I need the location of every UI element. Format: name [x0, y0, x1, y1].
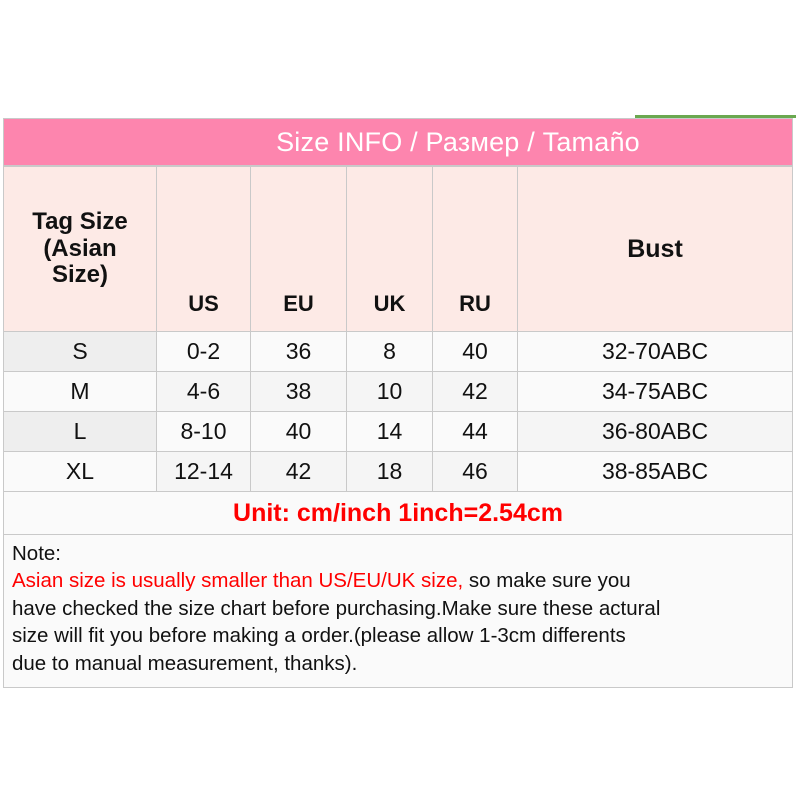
tag-size-label-line2: (Asian: [43, 235, 116, 262]
cell-us: 0-2: [157, 332, 251, 372]
unit-note-row: Unit: cm/inch 1inch=2.54cm: [4, 492, 793, 535]
note-line-2: have checked the size chart before purch…: [12, 595, 784, 622]
cell-eu: 36: [251, 332, 347, 372]
cell-us: 8-10: [157, 412, 251, 452]
note-line-4: due to manual measurement, thanks).: [12, 650, 784, 677]
cell-uk: 8: [347, 332, 433, 372]
note-line-1: Asian size is usually smaller than US/EU…: [12, 567, 784, 594]
note-rest-line1: so make sure you: [463, 569, 631, 592]
cell-tag-size: M: [4, 372, 157, 412]
column-header-us: US: [157, 167, 251, 332]
tag-size-label-line1: Tag Size: [32, 208, 128, 235]
table-row: M 4-6 38 10 42 34-75ABC: [4, 372, 793, 412]
size-table: Tag Size (Asian Size) US EU UK RU Bust S…: [3, 166, 793, 688]
table-row: L 8-10 40 14 44 36-80ABC: [4, 412, 793, 452]
cell-uk: 10: [347, 372, 433, 412]
table-row: XL 12-14 42 18 46 38-85ABC: [4, 452, 793, 492]
note-red-text: Asian size is usually smaller than US/EU…: [12, 569, 463, 592]
cell-bust: 32-70ABC: [518, 332, 793, 372]
cell-tag-size: S: [4, 332, 157, 372]
unit-note: Unit: cm/inch 1inch=2.54cm: [4, 492, 793, 535]
cell-eu: 38: [251, 372, 347, 412]
cell-bust: 36-80ABC: [518, 412, 793, 452]
size-chart: Size INFO / Размер / Tamaño Tag Size (As…: [3, 118, 793, 688]
note-line-3: size will fit you before making a order.…: [12, 622, 784, 649]
page-title: Size INFO / Размер / Tamaño: [156, 127, 640, 158]
column-header-uk: UK: [347, 167, 433, 332]
cell-tag-size: L: [4, 412, 157, 452]
column-header-tag-size: Tag Size (Asian Size): [4, 167, 157, 332]
cell-eu: 42: [251, 452, 347, 492]
cell-bust: 38-85ABC: [518, 452, 793, 492]
column-header-ru: RU: [433, 167, 518, 332]
cell-ru: 44: [433, 412, 518, 452]
note-row: Note: Asian size is usually smaller than…: [4, 535, 793, 688]
column-header-bust: Bust: [518, 167, 793, 332]
cell-us: 4-6: [157, 372, 251, 412]
note-label: Note:: [12, 540, 784, 567]
cell-ru: 46: [433, 452, 518, 492]
cell-ru: 42: [433, 372, 518, 412]
table-row: S 0-2 36 8 40 32-70ABC: [4, 332, 793, 372]
cell-uk: 14: [347, 412, 433, 452]
table-header-row: Tag Size (Asian Size) US EU UK RU Bust: [4, 167, 793, 332]
cell-eu: 40: [251, 412, 347, 452]
note-cell: Note: Asian size is usually smaller than…: [4, 535, 793, 688]
chart-title-band: Size INFO / Размер / Tamaño: [3, 118, 793, 166]
column-header-eu: EU: [251, 167, 347, 332]
cell-ru: 40: [433, 332, 518, 372]
cell-tag-size: XL: [4, 452, 157, 492]
tag-size-label-line3: Size): [52, 261, 108, 288]
cell-us: 12-14: [157, 452, 251, 492]
cell-bust: 34-75ABC: [518, 372, 793, 412]
cell-uk: 18: [347, 452, 433, 492]
